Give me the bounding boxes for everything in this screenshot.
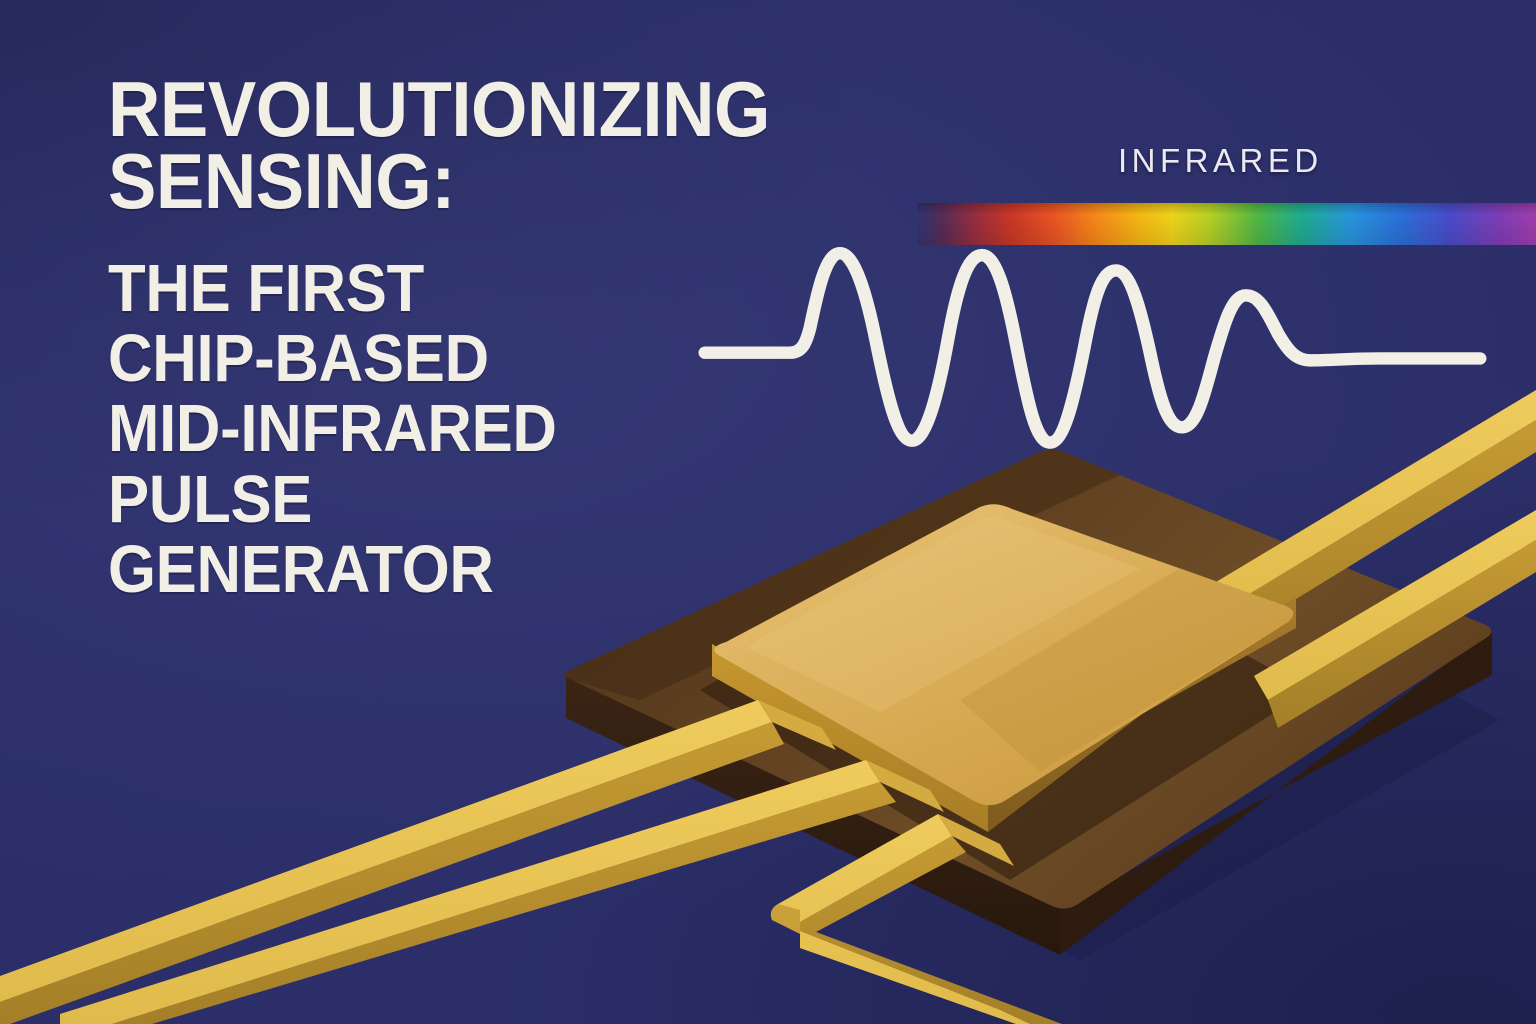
subtitle-line-4: Pulse bbox=[108, 465, 715, 535]
page-title: Revolutionizing Sensing: bbox=[108, 74, 722, 218]
subtitle-line-1: The First bbox=[108, 254, 715, 324]
page-subtitle: The First Chip-Based Mid-Infrared Pulse … bbox=[108, 254, 715, 606]
headline-block: Revolutionizing Sensing: The First Chip-… bbox=[108, 74, 768, 605]
poster-canvas: Infrared Revolutionizing Sensing: The Fi… bbox=[0, 0, 1536, 1024]
subtitle-line-2: Chip-Based bbox=[108, 324, 715, 394]
subtitle-line-3: Mid-Infrared bbox=[108, 394, 715, 464]
title-line-1: Revolutionizing bbox=[108, 74, 722, 146]
pulse-waveform-path bbox=[705, 253, 1480, 442]
subtitle-line-5: Generator bbox=[108, 535, 715, 605]
lead-left-upper bbox=[0, 700, 836, 1024]
title-line-2: Sensing: bbox=[108, 146, 722, 218]
pulse-waveform bbox=[690, 236, 1490, 456]
infrared-label: Infrared bbox=[1118, 142, 1323, 180]
